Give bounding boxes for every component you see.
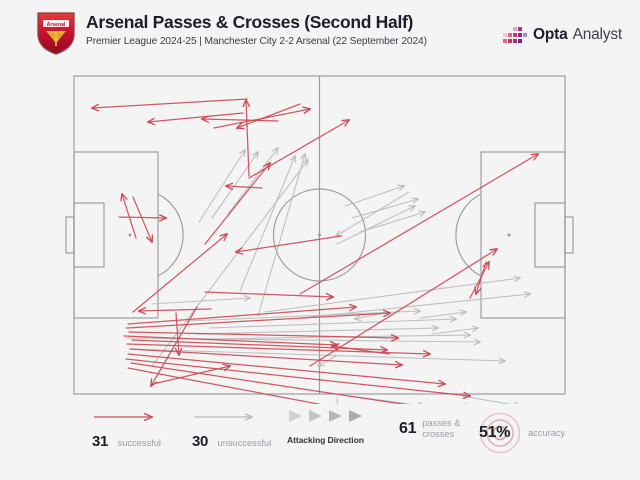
pass-arrow-successful: [202, 119, 278, 121]
pass-arrow-successful: [300, 154, 538, 294]
pass-arrow-successful: [310, 249, 497, 366]
pass-arrow-unsuccessful: [258, 154, 305, 316]
pitch-markings: [66, 76, 573, 394]
pass-map-infographic: Arsenal Arsenal Passes & Crosses (Second…: [0, 0, 640, 480]
pass-arrow-unsuccessful: [432, 328, 478, 334]
page-title: Arsenal Passes & Crosses (Second Half): [86, 11, 427, 33]
accuracy-label: accuracy: [528, 428, 565, 438]
pass-arrow-unsuccessful: [360, 212, 425, 232]
pass-arrow-successful: [139, 309, 211, 311]
pass-arrow-unsuccessful: [265, 278, 520, 312]
title-block: Arsenal Passes & Crosses (Second Half) P…: [86, 11, 427, 49]
legend-attacking-direction: Attacking Direction: [287, 407, 371, 445]
total-label-line2: crosses: [422, 429, 460, 440]
pass-arrow-successful: [246, 100, 249, 176]
opta-analyst-logo: Opta Analyst: [502, 24, 622, 46]
accuracy-value: 51%: [479, 424, 510, 442]
pass-arrow-unsuccessful: [228, 148, 278, 214]
successful-label: successful: [118, 438, 161, 448]
successful-arrow-icon: [92, 410, 162, 424]
pass-arrow-unsuccessful: [210, 319, 456, 328]
pass-arrow-unsuccessful: [212, 152, 258, 218]
pass-arrow-successful: [226, 186, 262, 188]
page-subtitle: Premier League 2024-25 | Manchester City…: [86, 35, 427, 49]
pass-arrow-successful: [236, 236, 341, 252]
pass-arrow-unsuccessful: [352, 199, 418, 218]
opta-brand-bold: Opta: [533, 26, 568, 44]
legend-unsuccessful: 30 unsuccessful: [192, 410, 271, 451]
pass-arrow-successful: [205, 163, 270, 244]
attacking-direction-label: Attacking Direction: [287, 435, 371, 445]
pass-arrow-successful: [249, 120, 349, 178]
pass-arrow-unsuccessful: [420, 312, 466, 318]
legend-successful: 31 successful: [92, 410, 162, 451]
unsuccessful-label: unsuccessful: [218, 438, 272, 448]
legend: 31 successful 30 unsuccessful: [0, 404, 640, 480]
pass-arrow-successful: [205, 292, 333, 297]
opta-brand-light: Analyst: [573, 26, 622, 44]
opta-bars-icon: [502, 24, 528, 46]
pass-arrow-successful: [128, 368, 466, 404]
successful-passes-layer: [92, 99, 538, 404]
successful-count: 31: [92, 433, 108, 450]
pitch-container: [0, 66, 640, 404]
arsenal-crest-icon: Arsenal: [36, 10, 76, 56]
pass-arrow-successful: [92, 99, 247, 108]
unsuccessful-count: 30: [192, 433, 208, 450]
pass-arrow-unsuccessful: [240, 156, 295, 291]
pass-arrow-successful: [133, 197, 152, 242]
pass-arrow-unsuccessful: [300, 294, 530, 318]
total-count: 61: [399, 420, 416, 438]
header: Arsenal Arsenal Passes & Crosses (Second…: [0, 0, 640, 66]
total-label-line1: passes &: [422, 418, 460, 429]
pass-arrow-successful: [148, 113, 243, 122]
pass-arrow-unsuccessful: [196, 328, 438, 334]
attacking-direction-arrows-icon: [287, 407, 371, 425]
pass-arrow-unsuccessful: [152, 298, 250, 304]
pass-arrow-unsuccessful: [462, 396, 520, 404]
pass-arrow-unsuccessful: [345, 186, 404, 206]
pass-arrow-unsuccessful: [199, 150, 245, 222]
unsuccessful-arrow-icon: [192, 410, 262, 424]
svg-text:Arsenal: Arsenal: [47, 22, 66, 28]
pass-arrow-successful: [119, 217, 166, 218]
legend-accuracy: 51% accuracy: [478, 418, 565, 448]
legend-total: 61 passes & crosses: [399, 418, 460, 440]
pass-arrow-successful: [470, 262, 489, 298]
pass-map-canvas: [0, 66, 640, 404]
pass-arrow-successful: [129, 332, 398, 338]
